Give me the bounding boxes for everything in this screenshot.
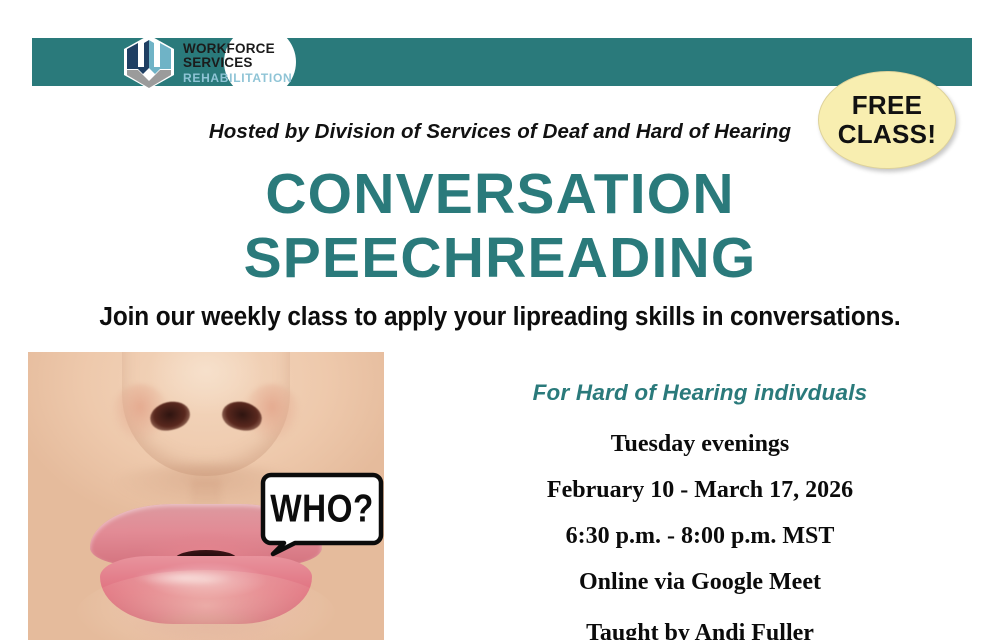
class-details: For Hard of Hearing indivduals Tuesday e… xyxy=(400,380,1000,640)
detail-line-time: 6:30 p.m. - 8:00 p.m. MST xyxy=(400,524,1000,548)
audience-text: For Hard of Hearing indivduals xyxy=(400,380,1000,406)
title-line-conversation: CONVERSATION xyxy=(0,163,1000,227)
logo-line-services: SERVICES xyxy=(183,56,292,70)
workforce-services-logo: WORKFORCE SERVICES REHABILITATION xyxy=(122,33,297,91)
detail-line-day: Tuesday evenings xyxy=(400,432,1000,456)
detail-line-dates: February 10 - March 17, 2026 xyxy=(400,478,1000,502)
photo-nose xyxy=(122,352,290,476)
speech-bubble-text: WHO? xyxy=(264,487,380,532)
detail-line-platform: Online via Google Meet xyxy=(400,570,1000,594)
logo-wordmark: WORKFORCE SERVICES REHABILITATION xyxy=(183,41,292,84)
free-class-badge-line1: FREE xyxy=(852,91,923,120)
logo-line-workforce: WORKFORCE xyxy=(183,42,292,56)
page-title: CONVERSATION SPEECHREADING xyxy=(0,163,1000,291)
hosted-by-text: Hosted by Division of Services of Deaf a… xyxy=(0,120,1000,144)
title-line-speechreading: SPEECHREADING xyxy=(0,227,1000,291)
detail-line-instructor: Taught by Andi Fuller xyxy=(400,620,1000,640)
speech-bubble: WHO? xyxy=(261,473,383,555)
logo-line-rehabilitation: REHABILITATION xyxy=(183,72,292,84)
subtitle-text: Join our weekly class to apply your lipr… xyxy=(23,303,978,332)
workforce-services-hexagon-mark-icon xyxy=(122,34,176,90)
flyer-canvas: WORKFORCE SERVICES REHABILITATION FREE C… xyxy=(0,0,1000,640)
